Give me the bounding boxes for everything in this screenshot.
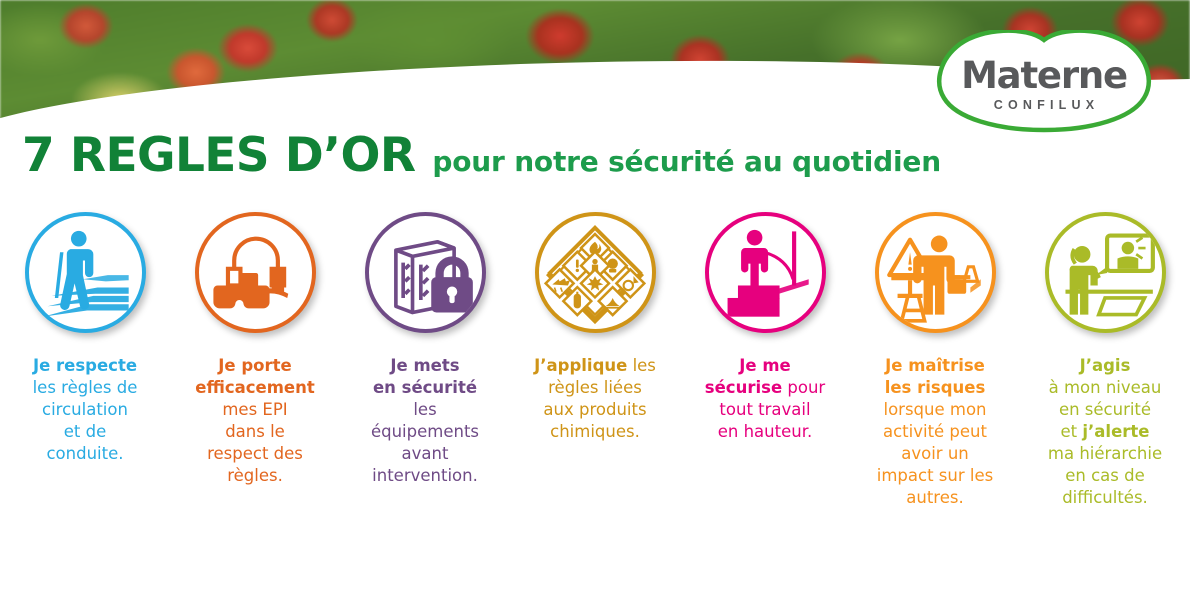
logo-brand-text: Materne <box>930 54 1158 97</box>
caption-line: en sécurité <box>1022 399 1188 421</box>
caption-line: les risques <box>852 377 1018 399</box>
caption-line: mes EPI <box>172 399 338 421</box>
caption-line: conduite. <box>2 443 168 465</box>
rules-row: Je respecteles règles decirculationet de… <box>0 212 1190 509</box>
rule-icon-circle-4 <box>535 212 656 333</box>
rule-caption-7: J’agisà mon niveauen sécuritéet j’alerte… <box>1022 355 1188 509</box>
materne-logo: Materne CONFILUX <box>930 30 1158 134</box>
alert-hierarchy-speech-icon <box>1053 221 1157 325</box>
rule-icon-circle-5 <box>705 212 826 333</box>
chemical-hazard-diamond-icon <box>543 221 647 325</box>
fall-protection-harness-icon <box>713 221 817 325</box>
caption-line: Je maîtrise <box>852 355 1018 377</box>
rule-icon-circle-2 <box>195 212 316 333</box>
electrical-cabinet-padlock-icon <box>373 221 477 325</box>
caption-line: dans le <box>172 421 338 443</box>
caption-line: J’agis <box>1022 355 1188 377</box>
rule-caption-4: J’applique lesrègles liéesaux produitsch… <box>512 355 678 443</box>
caption-line: Je porte <box>172 355 338 377</box>
rule-5: Je mesécurise pourtout travailen hauteur… <box>680 212 850 509</box>
rule-caption-5: Je mesécurise pourtout travailen hauteur… <box>682 355 848 443</box>
caption-line: respect des <box>172 443 338 465</box>
caption-line: en cas de <box>1022 465 1188 487</box>
poster: Materne CONFILUX 7 REGLES D’OR pour notr… <box>0 0 1190 594</box>
rule-caption-3: Je metsen sécuritéleséquipementsavantint… <box>342 355 508 487</box>
pedestrian-crosswalk-icon <box>33 221 137 325</box>
caption-line: et j’alerte <box>1022 421 1188 443</box>
caption-line: efficacement <box>172 377 338 399</box>
caption-line: ma hiérarchie <box>1022 443 1188 465</box>
page-title: 7 REGLES D’OR pour notre sécurité au quo… <box>22 128 1162 190</box>
caption-line: autres. <box>852 487 1018 509</box>
caption-line: règles liées <box>512 377 678 399</box>
caption-line: en hauteur. <box>682 421 848 443</box>
rule-3: Je metsen sécuritéleséquipementsavantint… <box>340 212 510 509</box>
rule-icon-circle-3 <box>365 212 486 333</box>
caption-line: chimiques. <box>512 421 678 443</box>
caption-line: J’applique les <box>512 355 678 377</box>
caption-line: tout travail <box>682 399 848 421</box>
rule-4: J’applique lesrègles liéesaux produitsch… <box>510 212 680 509</box>
caption-line: Je respecte <box>2 355 168 377</box>
caption-line: impact sur les <box>852 465 1018 487</box>
caption-line: lorsque mon <box>852 399 1018 421</box>
rule-caption-1: Je respecteles règles decirculationet de… <box>2 355 168 465</box>
caption-line: activité peut <box>852 421 1018 443</box>
caption-line: aux produits <box>512 399 678 421</box>
caption-line: Je mets <box>342 355 508 377</box>
caption-line: les <box>342 399 508 421</box>
caption-line: difficultés. <box>1022 487 1188 509</box>
title-main-text: 7 REGLES D’OR <box>22 128 415 183</box>
rule-icon-circle-1 <box>25 212 146 333</box>
rule-6: Je maîtriseles risqueslorsque monactivit… <box>850 212 1020 509</box>
rule-2: Je porteefficacementmes EPIdans lerespec… <box>170 212 340 509</box>
rule-7: J’agisà mon niveauen sécuritéet j’alerte… <box>1020 212 1190 509</box>
caption-line: et de <box>2 421 168 443</box>
caption-line: sécurise pour <box>682 377 848 399</box>
caption-line: règles. <box>172 465 338 487</box>
caption-line: Je me <box>682 355 848 377</box>
ppe-helmet-goggles-earmuffs-icon <box>203 221 307 325</box>
caption-line: les règles de <box>2 377 168 399</box>
title-sub-text: pour notre sécurité au quotidien <box>432 145 941 178</box>
caption-line: avoir un <box>852 443 1018 465</box>
rule-icon-circle-7 <box>1045 212 1166 333</box>
caption-line: en sécurité <box>342 377 508 399</box>
caption-line: à mon niveau <box>1022 377 1188 399</box>
rule-1: Je respecteles règles decirculationet de… <box>0 212 170 509</box>
caption-line: avant <box>342 443 508 465</box>
caption-line: circulation <box>2 399 168 421</box>
rule-caption-2: Je porteefficacementmes EPIdans lerespec… <box>172 355 338 487</box>
caption-line: intervention. <box>342 465 508 487</box>
rule-caption-6: Je maîtriseles risqueslorsque monactivit… <box>852 355 1018 509</box>
worker-warning-cones-icon <box>883 221 987 325</box>
rule-icon-circle-6 <box>875 212 996 333</box>
caption-line: équipements <box>342 421 508 443</box>
logo-subbrand-text: CONFILUX <box>930 98 1158 112</box>
